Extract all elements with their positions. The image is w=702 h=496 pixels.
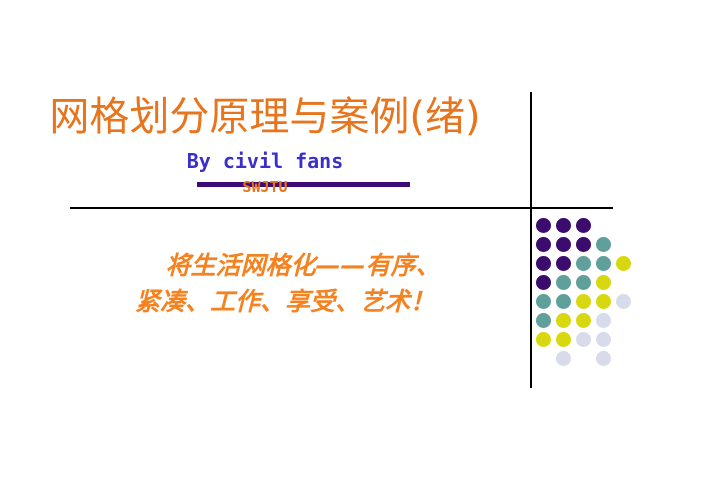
grid-dot	[536, 218, 551, 233]
grid-dot	[576, 275, 591, 290]
grid-dot	[536, 256, 551, 271]
presentation-slide: 网格划分原理与案例(绪) By civil fans SWJTU 将生活网格化—…	[0, 0, 702, 496]
body-text-line-2: 紧凑、工作、享受、艺术！	[60, 284, 510, 320]
slide-title: 网格划分原理与案例(绪)	[0, 93, 530, 141]
grid-dot	[576, 218, 591, 233]
decorative-dot-grid	[536, 218, 646, 368]
body-text-line-1: 将生活网格化——有序、	[60, 248, 510, 284]
grid-dot	[596, 294, 611, 309]
grid-dot	[596, 351, 611, 366]
grid-dot	[596, 332, 611, 347]
grid-dot	[556, 218, 571, 233]
vertical-divider-rule	[530, 92, 532, 388]
grid-dot	[576, 332, 591, 347]
slide-byline: By civil fans	[0, 149, 530, 173]
grid-dot	[596, 256, 611, 271]
grid-dot	[536, 294, 551, 309]
institution-banner: SWJTU	[0, 176, 530, 200]
slide-body-text: 将生活网格化——有序、 紧凑、工作、享受、艺术！	[60, 248, 510, 320]
grid-dot	[556, 313, 571, 328]
institution-label: SWJTU	[0, 176, 530, 198]
grid-dot	[596, 275, 611, 290]
grid-dot	[576, 256, 591, 271]
grid-dot	[556, 294, 571, 309]
grid-dot	[536, 237, 551, 252]
grid-dot	[596, 313, 611, 328]
grid-dot	[536, 275, 551, 290]
grid-dot	[616, 256, 631, 271]
grid-dot	[616, 294, 631, 309]
grid-dot	[556, 351, 571, 366]
grid-dot	[556, 275, 571, 290]
grid-dot	[536, 332, 551, 347]
grid-dot	[576, 237, 591, 252]
grid-dot	[536, 313, 551, 328]
grid-dot	[556, 332, 571, 347]
grid-dot	[556, 237, 571, 252]
grid-dot	[576, 294, 591, 309]
grid-dot	[556, 256, 571, 271]
grid-dot	[596, 237, 611, 252]
grid-dot	[576, 313, 591, 328]
